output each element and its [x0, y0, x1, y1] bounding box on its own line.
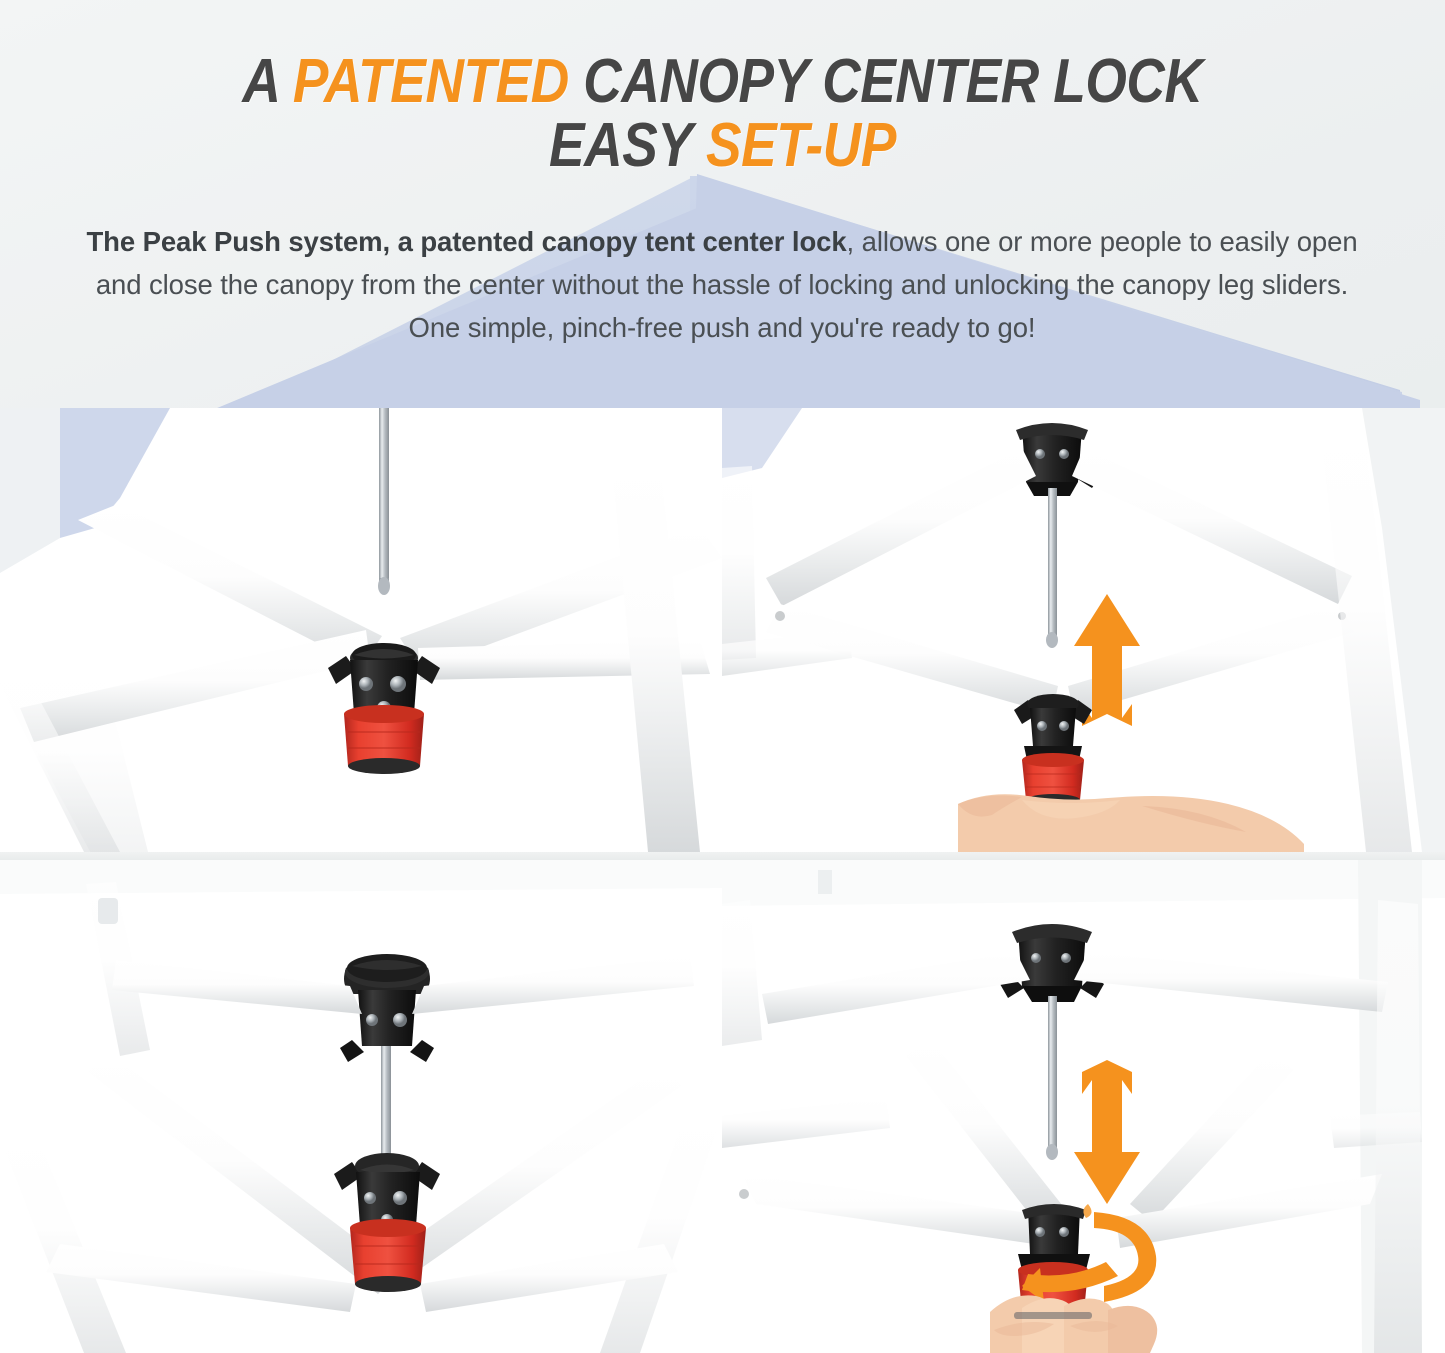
- photo-grid: [0, 408, 1445, 1353]
- body-closing: One simple, pinch-free push and you're r…: [82, 306, 1362, 349]
- subtitle-accent-setup: SET-UP: [706, 111, 896, 180]
- panel-collapsed-hub: [0, 408, 722, 852]
- subtitle-text-a: EASY: [549, 111, 706, 180]
- page-title: A PATENTED CANOPY CENTER LOCK EASY SET-U…: [101, 0, 1344, 178]
- panel-locked: [0, 860, 722, 1353]
- header: A PATENTED CANOPY CENTER LOCK EASY SET-U…: [0, 0, 1445, 178]
- body-copy: The Peak Push system, a patented canopy …: [82, 220, 1362, 349]
- body-bold-lead: The Peak Push system, a patented canopy …: [86, 226, 846, 257]
- title-text-b: CANOPY CENTER LOCK: [569, 47, 1203, 116]
- panel-push-up: [722, 408, 1445, 852]
- panel-divider: [0, 852, 1445, 860]
- panel-release-rotate: [722, 860, 1445, 1353]
- infographic-page: A PATENTED CANOPY CENTER LOCK EASY SET-U…: [0, 0, 1445, 1353]
- title-accent-patented: PATENTED: [293, 47, 569, 116]
- bottom-hub: [1014, 694, 1092, 806]
- page-subtitle: EASY SET-UP: [101, 114, 1344, 178]
- title-text-a: A: [242, 47, 292, 116]
